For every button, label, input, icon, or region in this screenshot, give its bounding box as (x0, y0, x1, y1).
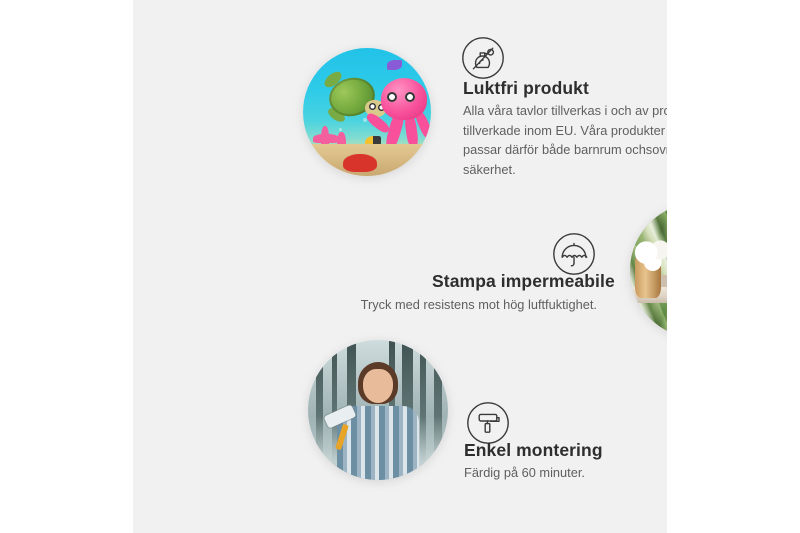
feature-title: Enkel montering (464, 440, 603, 461)
woman-face (363, 369, 393, 403)
feature-photo-underwater (303, 48, 431, 176)
paint-roller-icon (466, 401, 510, 445)
feature-description: Tryck med resistens mot hög luftfuktighe… (356, 295, 597, 315)
no-fragrance-icon (461, 36, 505, 80)
turtle-eye (369, 103, 376, 110)
bubble-icon (339, 128, 342, 131)
white-flowers (633, 239, 667, 273)
product-feature-panel: Luktfri produkt Alla våra tavlor tillver… (133, 0, 667, 533)
feature-description: Alla våra tavlor tillverkas i och av pro… (463, 101, 667, 179)
octopus-eye (387, 92, 397, 102)
screenshot-stage: Luktfri produkt Alla våra tavlor tillver… (0, 0, 800, 533)
crab (343, 154, 377, 172)
feature-title: Luktfri produkt (463, 78, 589, 99)
umbrella-icon (552, 232, 596, 276)
underwater-kids-illustration (303, 48, 431, 176)
coral (313, 134, 339, 143)
feature-description: Färdig på 60 minuter. (464, 463, 667, 483)
feature-photo-installer (308, 340, 448, 480)
feature-title: Stampa impermeabile (432, 271, 615, 292)
woman-with-paint-roller-forest (308, 340, 448, 480)
bathroom-tropical-wallpaper (630, 203, 667, 338)
fish-icon (387, 60, 402, 70)
octopus-eye (405, 92, 415, 102)
feature-photo-bathroom (630, 203, 667, 338)
